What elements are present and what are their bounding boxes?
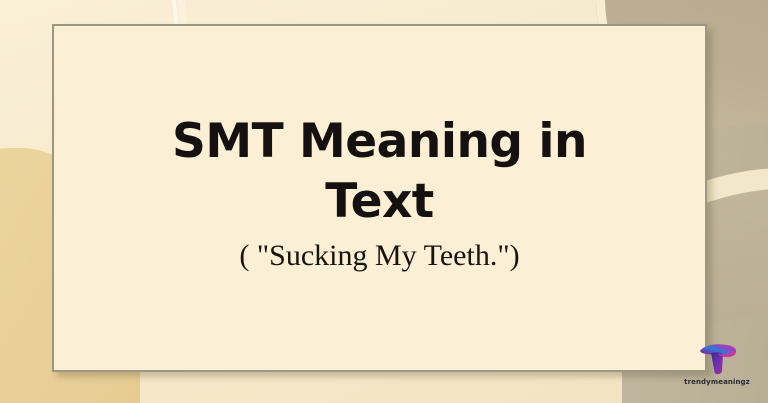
brand-name-label: trendymeaningz bbox=[684, 378, 750, 386]
trendymeaningz-t-icon bbox=[694, 341, 740, 377]
page-title-line-1: SMT Meaning in bbox=[172, 114, 587, 169]
title-card-content: SMT Meaning in Text ( "Sucking My Teeth.… bbox=[54, 112, 705, 284]
page-title: SMT Meaning in Text bbox=[54, 112, 705, 232]
title-card: SMT Meaning in Text ( "Sucking My Teeth.… bbox=[52, 24, 707, 372]
brand-logo[interactable]: trendymeaningz bbox=[680, 341, 754, 397]
page-subtitle: ( "Sucking My Teeth.") bbox=[54, 238, 705, 274]
graphic-canvas: SMT Meaning in Text ( "Sucking My Teeth.… bbox=[0, 0, 768, 403]
page-title-line-2: Text bbox=[325, 174, 433, 229]
